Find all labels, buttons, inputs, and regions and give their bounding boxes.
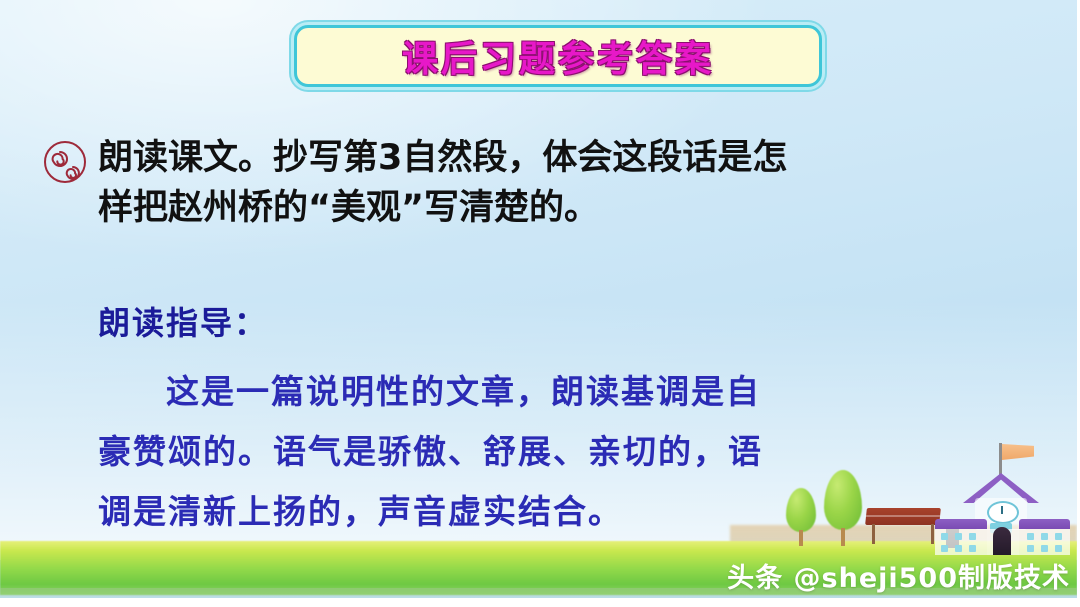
guidance-line-2: 豪赞颂的。语气是骄傲、舒展、亲切的，语: [98, 422, 998, 482]
guidance-line-1: 这是一篇说明性的文章，朗读基调是自: [98, 362, 998, 422]
bottom-edge-border: [0, 598, 1080, 607]
guidance-block: 朗读指导： 这是一篇说明性的文章，朗读基调是自 豪赞颂的。语气是骄傲、舒展、亲切…: [98, 300, 998, 542]
watermark-text: 头条 @sheji500制版技术: [727, 556, 1070, 595]
school-building-icon: [935, 443, 1070, 545]
question-block: 朗读课文。抄写第3自然段，体会这段话是怎 样把赵州桥的“美观”写清楚的。: [38, 133, 1038, 233]
flag-icon: [1002, 444, 1034, 460]
tree-icon-right: [824, 470, 862, 546]
shed-icon: [866, 508, 940, 544]
question-line-1: 朗读课文。抄写第3自然段，体会这段话是怎: [38, 133, 1038, 183]
flagpole-icon: [999, 443, 1002, 477]
slide-canvas: 课后习题参考答案 朗读课文。抄写第3自然段，体会这段话是怎 样把赵州桥的“美观”…: [0, 0, 1080, 607]
guidance-body: 这是一篇说明性的文章，朗读基调是自 豪赞颂的。语气是骄傲、舒展、亲切的，语 调是…: [98, 362, 998, 542]
clock-icon: [987, 501, 1019, 524]
right-wing-roof: [1019, 519, 1070, 529]
question-line-2: 样把赵州桥的“美观”写清楚的。: [38, 183, 1038, 233]
tree-icon-left: [786, 488, 816, 546]
page-title: 课后习题参考答案: [402, 30, 714, 82]
guidance-line-3: 调是清新上扬的，声音虚实结合。: [98, 482, 998, 542]
spiral-bullet-icon: [42, 139, 88, 185]
left-wing-roof: [935, 519, 987, 529]
title-banner: 课后习题参考答案: [294, 25, 822, 87]
school-door: [993, 527, 1011, 555]
guidance-heading: 朗读指导：: [98, 300, 998, 346]
